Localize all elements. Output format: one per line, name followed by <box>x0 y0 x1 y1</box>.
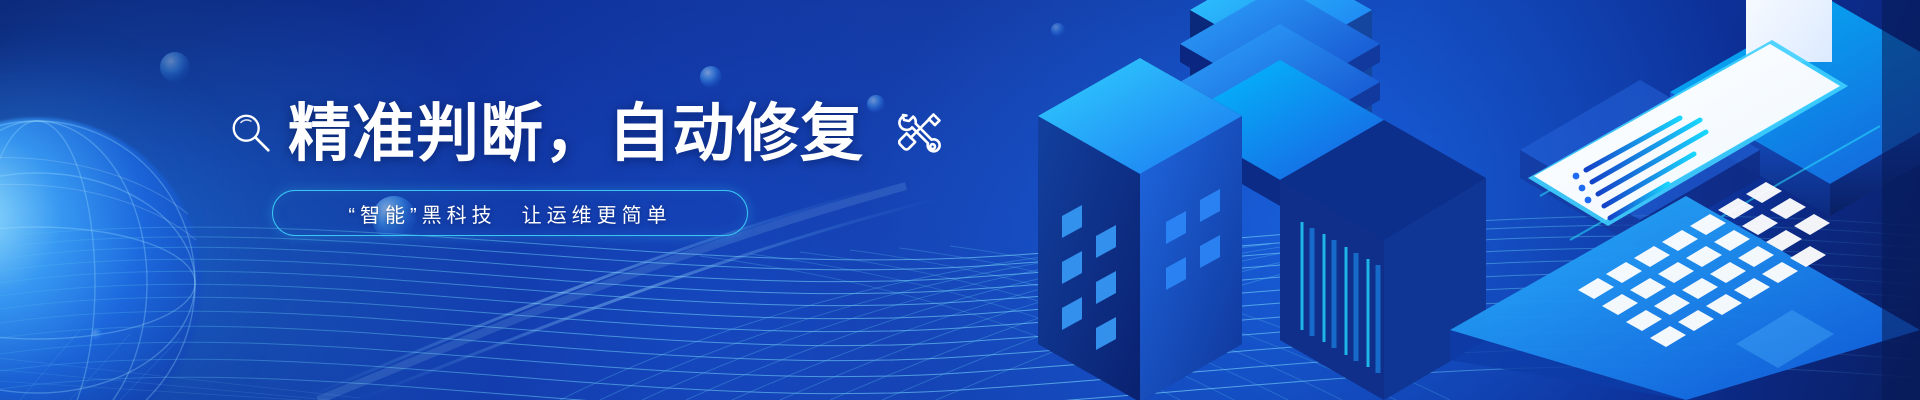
isometric-illustration <box>980 0 1920 400</box>
promo-banner: 精准判断，自动修复 “智能”黑科技 让运维更简单 <box>0 0 1920 400</box>
subtitle-text: “智能”黑科技 让运维更简单 <box>348 199 671 228</box>
banner-copy: 精准判断，自动修复 “智能”黑科技 让运维更简单 <box>228 98 1068 236</box>
subtitle-pill: “智能”黑科技 让运维更简单 <box>272 190 748 236</box>
wrench-screwdriver-icon <box>892 106 948 162</box>
headline-row: 精准判断，自动修复 <box>228 98 1068 170</box>
building-left-windows <box>1038 58 1242 400</box>
magnifying-glass-icon <box>228 110 274 156</box>
headline-text: 精准判断，自动修复 <box>288 101 864 167</box>
edge-shade <box>1882 0 1920 400</box>
